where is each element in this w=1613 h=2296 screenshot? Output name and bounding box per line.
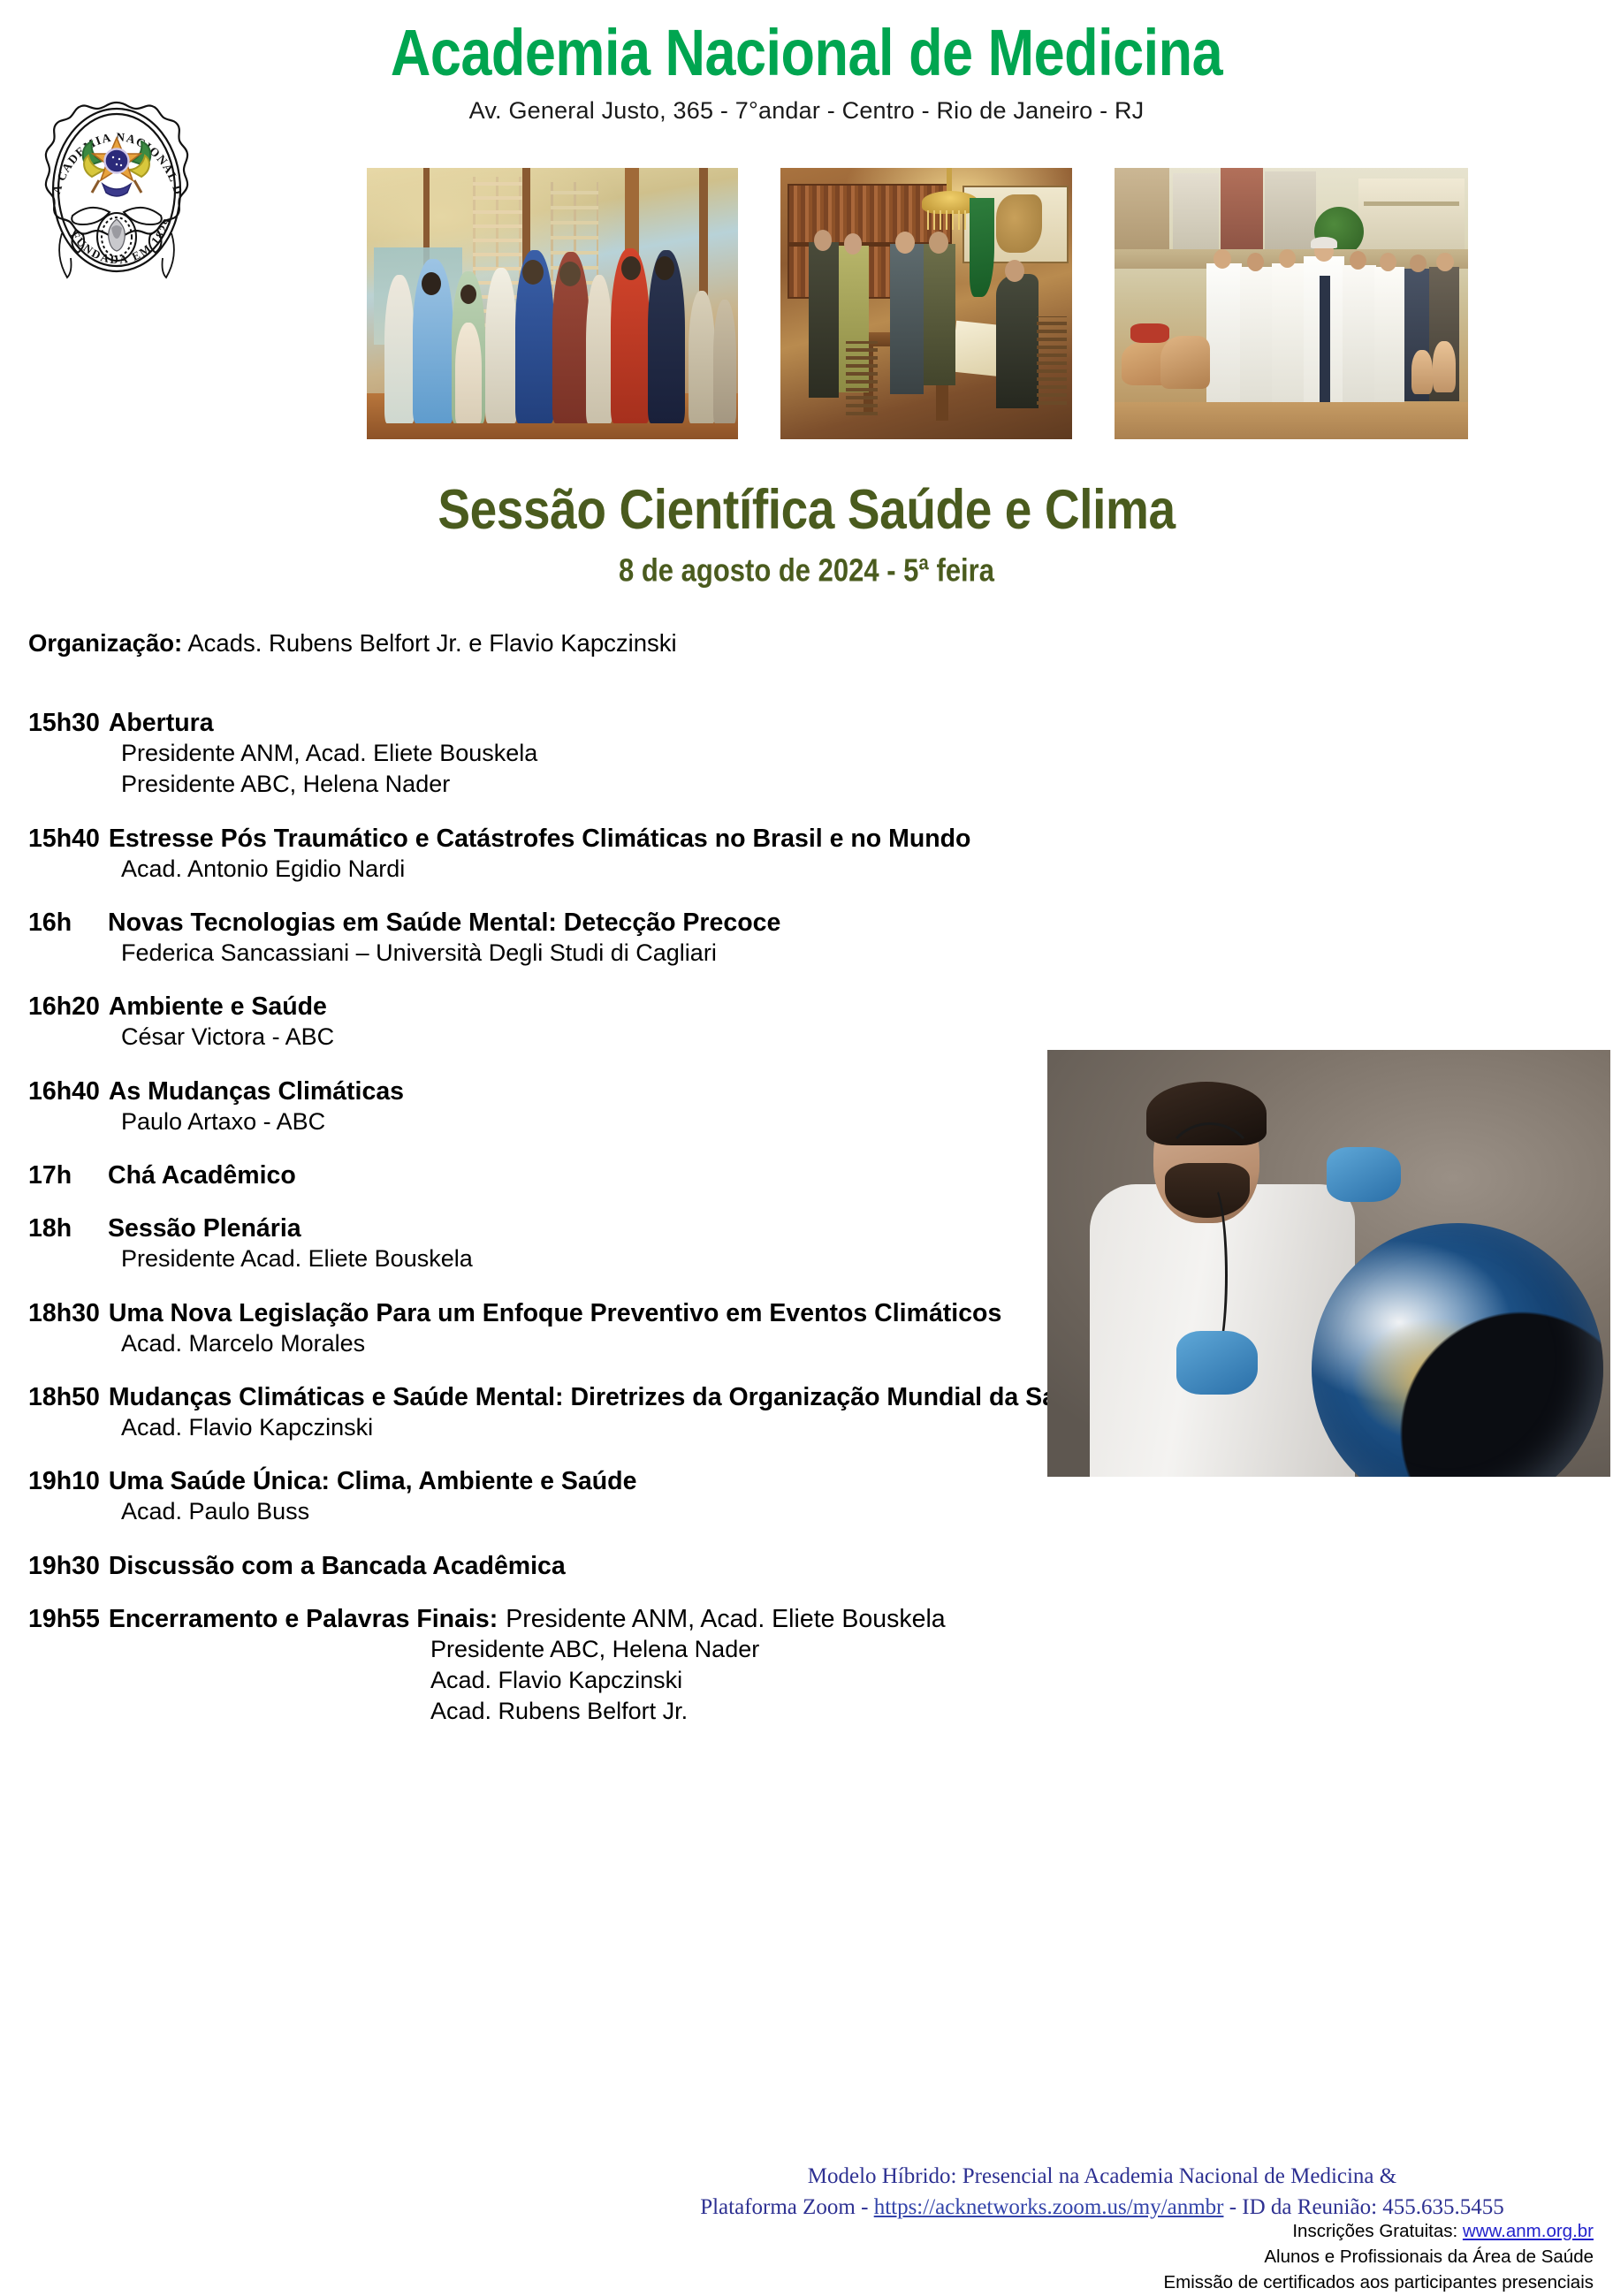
program-item-title: Chá Acadêmico — [108, 1161, 296, 1190]
page-title: Academia Nacional de Medicina — [0, 0, 1613, 87]
program-item-header: 19h30Discussão com a Bancada Acadêmica — [28, 1552, 1531, 1581]
event-date: 8 de agosto de 2024 - 5ª feira — [0, 552, 1613, 589]
program-item: 15h40Estresse Pós Traumático e Catástrof… — [28, 825, 1531, 885]
program-item-time: 15h40 — [28, 825, 100, 854]
registration-info: Inscrições Gratuitas: www.anm.org.br Alu… — [1163, 2218, 1594, 2295]
program-item-time: 18h30 — [28, 1299, 100, 1328]
registration-label: Inscrições Gratuitas: — [1292, 2221, 1463, 2241]
program-item-title: Uma Nova Legislação Para um Enfoque Prev… — [109, 1299, 1002, 1328]
program-item-title: Ambiente e Saúde — [109, 992, 327, 1022]
program-item-speakers: César Victora - ABC — [121, 1022, 1531, 1053]
hybrid-line-1: Modelo Híbrido: Presencial na Academia N… — [607, 2162, 1597, 2193]
registration-link[interactable]: www.anm.org.br — [1463, 2221, 1594, 2241]
program-item-title: As Mudanças Climáticas — [109, 1077, 404, 1106]
program-item-time: 19h55 — [28, 1605, 100, 1634]
event-title: Sessão Científica Saúde e Clima — [0, 477, 1613, 542]
program-item-title: Estresse Pós Traumático e Catástrofes Cl… — [109, 825, 971, 854]
registration-line: Inscrições Gratuitas: www.anm.org.br — [1163, 2218, 1594, 2244]
program-item: 19h30Discussão com a Bancada Acadêmica — [28, 1552, 1531, 1581]
certificate-note: Emissão de certificados aos participante… — [1163, 2269, 1594, 2295]
painting-ship-arrival — [367, 168, 738, 439]
program-item-time: 16h40 — [28, 1077, 100, 1106]
program-item-speakers: Federica Sancassiani – Università Degli … — [121, 938, 1531, 969]
speaker-name: Acad. Antonio Egidio Nardi — [121, 854, 1531, 885]
painting-physicians-street — [1115, 168, 1468, 439]
speaker-name: Acad. Flavio Kapczinski — [430, 1665, 1531, 1696]
program-item-title: Discussão com a Bancada Acadêmica — [109, 1552, 566, 1581]
doctor-examining-earth-photo — [1047, 1050, 1610, 1477]
organization-value: Acads. Rubens Belfort Jr. e Flavio Kapcz… — [187, 629, 676, 657]
program-item-speakers: Presidente ANM, Acad. Eliete BouskelaPre… — [121, 738, 1531, 801]
program-item-time: 18h50 — [28, 1383, 100, 1412]
program-item-title: Encerramento e Palavras Finais: — [109, 1605, 498, 1634]
program-item: 15h30AberturaPresidente ANM, Acad. Eliet… — [28, 709, 1531, 801]
program-item-time: 17h — [28, 1161, 99, 1190]
program-item-time: 16h20 — [28, 992, 100, 1022]
program-item-time: 18h — [28, 1214, 99, 1243]
header-painting-row — [0, 168, 1613, 439]
organization-line: Organização: Acads. Rubens Belfort Jr. e… — [28, 629, 677, 658]
program-item-title-continuation: Presidente ANM, Acad. Eliete Bouskela — [506, 1605, 945, 1634]
organization-label: Organização: — [28, 629, 182, 657]
program-item-header: 19h55Encerramento e Palavras Finais:Pres… — [28, 1605, 1531, 1634]
program-item-header: 15h30Abertura — [28, 709, 1531, 738]
target-audience: Alunos e Profissionais da Área de Saúde — [1163, 2244, 1594, 2269]
program-item-title: Sessão Plenária — [108, 1214, 301, 1243]
program-item-speakers: Acad. Antonio Egidio Nardi — [121, 854, 1531, 885]
program-item-header: 15h40Estresse Pós Traumático e Catástrof… — [28, 825, 1531, 854]
program-item-time: 19h10 — [28, 1467, 100, 1496]
speaker-name: Presidente ANM, Acad. Eliete Bouskela — [121, 738, 1531, 769]
program-item: 19h55Encerramento e Palavras Finais:Pres… — [28, 1605, 1531, 1728]
institution-address: Av. General Justo, 365 - 7°andar - Centr… — [0, 97, 1613, 125]
speaker-name: Federica Sancassiani – Università Degli … — [121, 938, 1531, 969]
speaker-name: Acad. Rubens Belfort Jr. — [430, 1696, 1531, 1727]
program-item-time: 16h — [28, 909, 99, 938]
program-item: 16hNovas Tecnologias em Saúde Mental: De… — [28, 909, 1531, 969]
program-item-speakers: Acad. Paulo Buss — [121, 1496, 1531, 1527]
program-item-title: Abertura — [109, 709, 214, 738]
zoom-meeting-id: - ID da Reunião: 455.635.5455 — [1223, 2195, 1503, 2219]
program-item-header: 16h20Ambiente e Saúde — [28, 992, 1531, 1022]
program-item-time: 15h30 — [28, 709, 100, 738]
program-item-time: 19h30 — [28, 1552, 100, 1581]
program-item: 16h20Ambiente e SaúdeCésar Victora - ABC — [28, 992, 1531, 1053]
program-item-header: 16hNovas Tecnologias em Saúde Mental: De… — [28, 909, 1531, 938]
speaker-name: César Victora - ABC — [121, 1022, 1531, 1053]
zoom-meeting-link[interactable]: https://acknetworks.zoom.us/my/anmbr — [874, 2195, 1224, 2219]
painting-signing-ceremony — [780, 168, 1072, 439]
speaker-name: Acad. Paulo Buss — [121, 1496, 1531, 1527]
program-item-title: Novas Tecnologias em Saúde Mental: Detec… — [108, 909, 780, 938]
program-item-title: Mudanças Climáticas e Saúde Mental: Dire… — [109, 1383, 1101, 1412]
zoom-prefix: Plataforma Zoom - — [700, 2195, 873, 2219]
program-item-speakers: Presidente ABC, Helena NaderAcad. Flavio… — [430, 1634, 1531, 1728]
hybrid-model-info: Modelo Híbrido: Presencial na Academia N… — [607, 2162, 1597, 2223]
program-item-title: Uma Saúde Única: Clima, Ambiente e Saúde — [109, 1467, 637, 1496]
speaker-name: Presidente ABC, Helena Nader — [430, 1634, 1531, 1665]
speaker-name: Presidente ABC, Helena Nader — [121, 769, 1531, 800]
